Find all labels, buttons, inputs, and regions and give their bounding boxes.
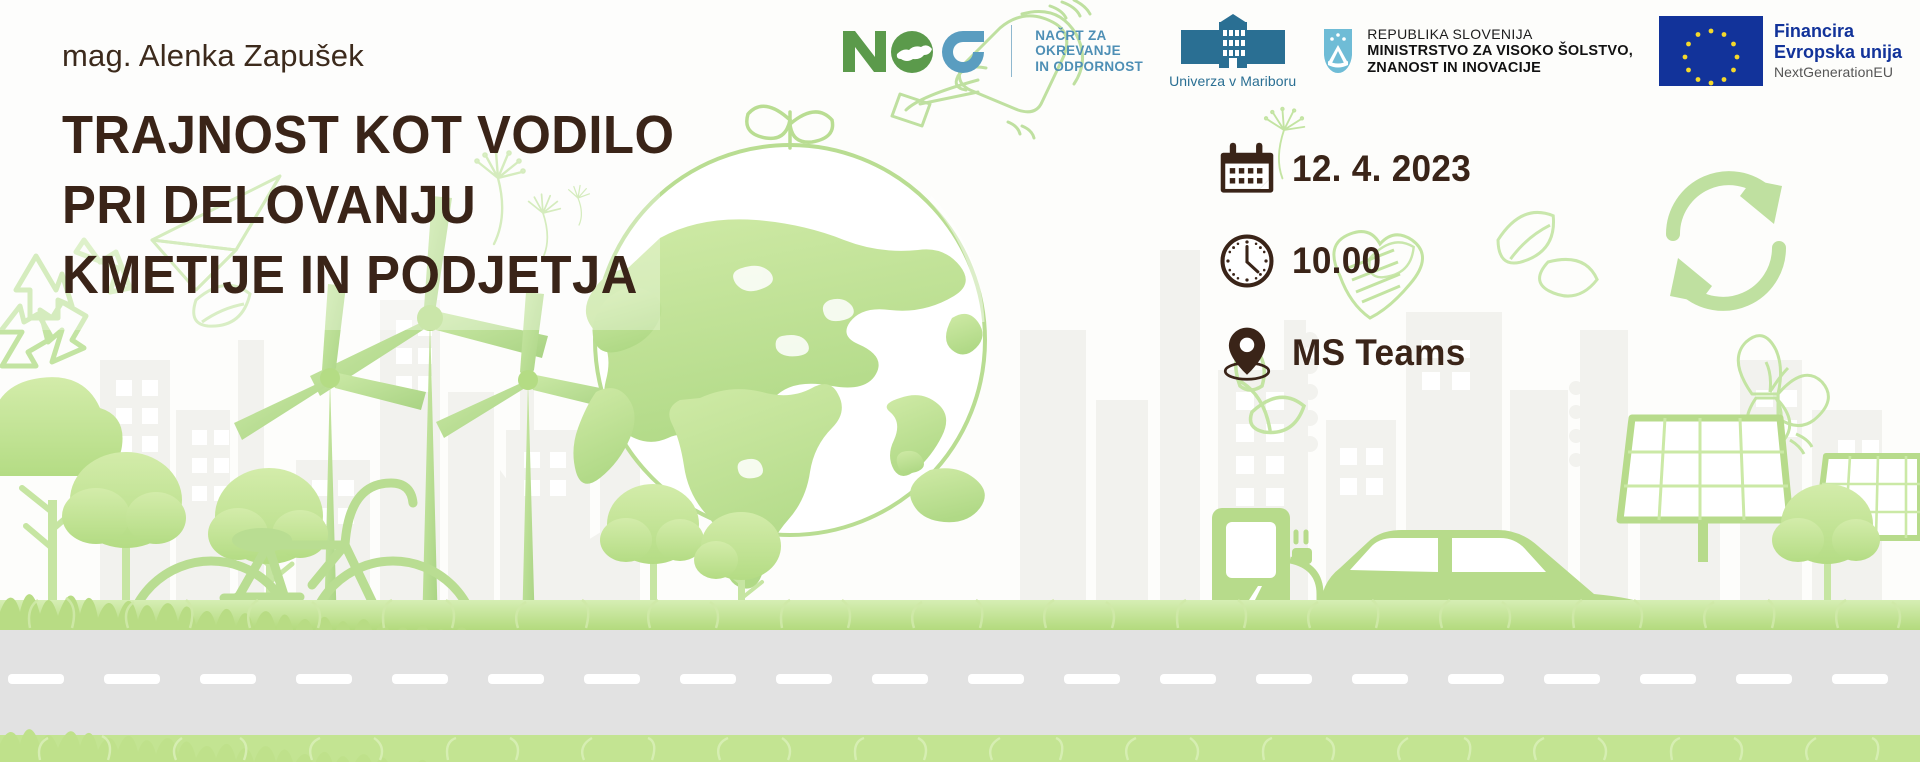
- event-details: 12. 4. 2023 10.00: [1218, 138, 1480, 384]
- ministry-line-2: MINISTRSTVO ZA VISOKO ŠOLSTVO,: [1367, 43, 1633, 60]
- eu-text: Financira Evropska unija NextGenerationE…: [1774, 21, 1902, 82]
- eu-line-3: NextGenerationEU: [1774, 63, 1902, 82]
- logo-eu-funding: Financira Evropska unija NextGenerationE…: [1659, 16, 1902, 86]
- university-building-icon: [1181, 14, 1285, 72]
- noo-subtitle-line-3: IN ODPORNOST: [1035, 59, 1143, 75]
- page-title: TRAJNOST KOT VODILO PRI DELOVANJU KMETIJ…: [62, 100, 714, 310]
- location-pin-icon: [1218, 324, 1276, 382]
- speaker-name: mag. Alenka Zapušek: [62, 38, 714, 74]
- ministry-line-1: REPUBLIKA SLOVENIJA: [1367, 26, 1633, 43]
- logo-noo: NAČRT ZA OKREVANJE IN ODPORNOST: [839, 25, 1143, 77]
- noo-subtitle-line-1: NAČRT ZA: [1035, 28, 1143, 44]
- eu-line-1: Financira: [1774, 21, 1902, 42]
- ministry-line-3: ZNANOST IN INOVACIJE: [1367, 60, 1633, 77]
- logo-ministry: REPUBLIKA SLOVENIJA MINISTRSTVO ZA VISOK…: [1322, 26, 1633, 77]
- road: [0, 630, 1920, 735]
- logo-university-maribor: Univerza v Mariboru: [1169, 14, 1296, 89]
- university-caption: Univerza v Mariboru: [1169, 73, 1296, 89]
- detail-row-time: 10.00: [1218, 230, 1480, 292]
- detail-row-location: MS Teams: [1218, 322, 1480, 384]
- logo-divider: [1011, 25, 1013, 77]
- noo-subtitle: NAČRT ZA OKREVANJE IN ODPORNOST: [1035, 28, 1143, 75]
- slovenia-coat-of-arms-icon: [1322, 27, 1354, 75]
- noo-wordmark-icon: [839, 26, 989, 76]
- detail-row-date: 12. 4. 2023: [1218, 138, 1480, 200]
- ministry-text: REPUBLIKA SLOVENIJA MINISTRSTVO ZA VISOK…: [1367, 26, 1633, 77]
- title-line-2: PRI DELOVANJU: [62, 170, 674, 240]
- eu-flag-icon: [1659, 16, 1763, 86]
- noo-subtitle-line-2: OKREVANJE: [1035, 43, 1143, 59]
- event-location: MS Teams: [1292, 332, 1466, 374]
- title-line-1: TRAJNOST KOT VODILO: [62, 100, 674, 170]
- logo-bar: NAČRT ZA OKREVANJE IN ODPORNOST: [839, 12, 1902, 90]
- clock-icon: [1218, 232, 1276, 290]
- bicycle-icon: [232, 528, 292, 552]
- calendar-icon: [1218, 140, 1276, 198]
- event-poster: mag. Alenka Zapušek TRAJNOST KOT VODILO …: [0, 0, 1920, 762]
- title-line-3: KMETIJE IN PODJETJA: [62, 240, 674, 310]
- headline-block: mag. Alenka Zapušek TRAJNOST KOT VODILO …: [62, 38, 714, 310]
- event-date: 12. 4. 2023: [1292, 148, 1471, 190]
- eu-line-2: Evropska unija: [1774, 42, 1902, 63]
- event-time: 10.00: [1292, 240, 1381, 282]
